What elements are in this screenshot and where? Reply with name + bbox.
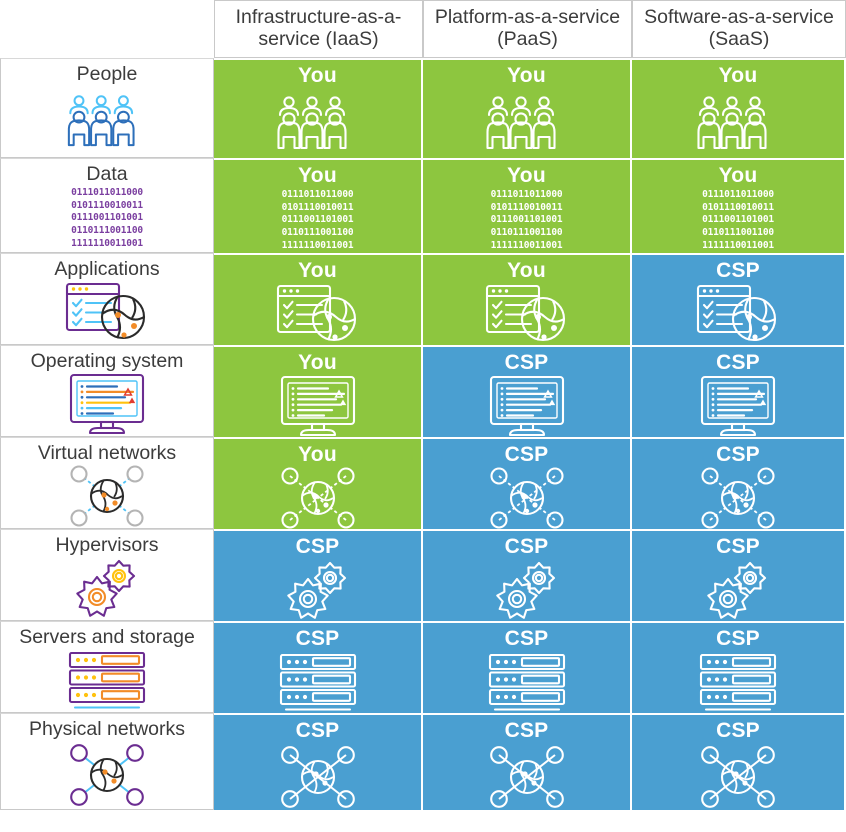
physical-network-icon [214,743,421,810]
responsibility-label: CSP [505,718,549,743]
column-header-iaas: Infrastructure-as-a-service (IaaS) [214,0,423,58]
binary-line: 0101110010011 [702,202,774,215]
binary-line: 0110111001100 [71,225,143,238]
cell-applications-saas: CSP [632,253,846,345]
cell-physical-networks-paas: CSP [423,713,632,810]
responsibility-label: You [507,258,546,283]
row-label-hypervisors: Hypervisors [0,529,214,621]
row-label-text: Virtual networks [38,442,176,464]
cell-data-saas: You0111011011000010111001001101110011010… [632,158,846,253]
cell-operating-system-saas: CSP [632,345,846,437]
binary-data-icon: 0111011011000010111001001101110011010010… [632,188,844,253]
cell-physical-networks-iaas: CSP [214,713,423,810]
responsibility-label: CSP [296,534,340,559]
row-label-physical-networks: Physical networks [0,713,214,810]
monitor-icon [423,375,630,437]
row-label-text: Servers and storage [19,626,195,648]
responsibility-label: You [298,63,337,88]
responsibility-label: CSP [716,718,760,743]
responsibility-label: You [719,163,758,188]
row-label-text: Operating system [31,350,184,372]
row-label-servers-and-storage: Servers and storage [0,621,214,713]
responsibility-label: CSP [716,350,760,375]
physical-network-icon [1,740,213,809]
binary-line: 1111110011001 [702,240,774,253]
row-label-virtual-networks: Virtual networks [0,437,214,529]
virtual-network-icon [214,467,421,529]
responsibility-label: CSP [716,258,760,283]
matrix-corner-cell [0,0,214,58]
responsibility-label: CSP [296,718,340,743]
row-label-text: Data [86,163,127,185]
cell-operating-system-paas: CSP [423,345,632,437]
applications-icon [1,280,213,344]
binary-line: 1111110011001 [491,240,563,253]
binary-line: 0111001101001 [282,214,354,227]
cell-hypervisors-paas: CSP [423,529,632,621]
binary-line: 0101110010011 [491,202,563,215]
responsibility-label: You [298,350,337,375]
server-rack-icon [632,651,844,713]
column-header-paas: Platform-as-a-service (PaaS) [423,0,632,58]
responsibility-label: You [298,258,337,283]
cell-virtual-networks-paas: CSP [423,437,632,529]
applications-icon [632,283,844,345]
binary-data-icon: 0111011011000010111001001101110011010010… [491,189,563,252]
binary-data-icon: 0111011011000010111001001101110011010010… [702,189,774,252]
physical-network-icon [632,743,844,810]
cell-hypervisors-saas: CSP [632,529,846,621]
row-label-text: Hypervisors [56,534,159,556]
gears-icon [214,559,421,621]
cell-servers-and-storage-saas: CSP [632,621,846,713]
binary-line: 0111011011000 [71,187,143,200]
binary-line: 0111001101001 [491,214,563,227]
binary-data-icon: 0111011011000010111001001101110011010010… [282,189,354,252]
responsibility-label: You [298,442,337,467]
responsibility-label: CSP [505,534,549,559]
cell-virtual-networks-saas: CSP [632,437,846,529]
binary-line: 1111110011001 [282,240,354,253]
cell-people-iaas: You [214,58,423,158]
shared-responsibility-matrix: Infrastructure-as-a-service (IaaS)Platfo… [0,0,846,832]
responsibility-label: CSP [505,442,549,467]
binary-line: 1111110011001 [71,238,143,251]
gears-icon [1,556,213,620]
row-label-data: Data011101101100001011100100110111001101… [0,158,214,253]
people-icon [214,88,421,158]
server-rack-icon [214,651,421,713]
virtual-network-icon [423,467,630,529]
server-rack-icon [423,651,630,713]
responsibility-label: You [507,163,546,188]
binary-data-icon: 0111011011000010111001001101110011010010… [423,188,630,253]
cell-physical-networks-saas: CSP [632,713,846,810]
responsibility-label: CSP [716,534,760,559]
column-header-label: Software-as-a-service (SaaS) [639,7,839,51]
column-header-label: Platform-as-a-service (PaaS) [430,7,625,51]
responsibility-label: CSP [505,626,549,651]
responsibility-label: CSP [716,442,760,467]
virtual-network-icon [632,467,844,529]
monitor-icon [632,375,844,437]
responsibility-label: You [298,163,337,188]
applications-icon [423,283,630,345]
cell-hypervisors-iaas: CSP [214,529,423,621]
binary-data-icon: 0111011011000010111001001101110011010010… [1,185,213,252]
responsibility-label: You [507,63,546,88]
cell-data-iaas: You0111011011000010111001001101110011010… [214,158,423,253]
cell-operating-system-iaas: You [214,345,423,437]
server-rack-icon [1,648,213,712]
row-label-text: Applications [54,258,159,280]
binary-line: 0110111001100 [491,227,563,240]
physical-network-icon [423,743,630,810]
cell-people-paas: You [423,58,632,158]
cell-data-paas: You0111011011000010111001001101110011010… [423,158,632,253]
gears-icon [632,559,844,621]
binary-line: 0111001101001 [702,214,774,227]
responsibility-label: CSP [296,626,340,651]
binary-data-icon: 0111011011000010111001001101110011010010… [214,188,421,253]
responsibility-label: CSP [505,350,549,375]
row-label-text: People [77,63,138,85]
cell-virtual-networks-iaas: You [214,437,423,529]
cell-applications-iaas: You [214,253,423,345]
gears-icon [423,559,630,621]
row-label-people: People [0,58,214,158]
row-label-operating-system: Operating system [0,345,214,437]
binary-line: 0101110010011 [71,200,143,213]
cell-servers-and-storage-paas: CSP [423,621,632,713]
cell-servers-and-storage-iaas: CSP [214,621,423,713]
row-label-applications: Applications [0,253,214,345]
cell-people-saas: You [632,58,846,158]
binary-line: 0111001101001 [71,212,143,225]
responsibility-label: You [719,63,758,88]
monitor-icon [1,372,213,436]
binary-line: 0111011011000 [282,189,354,202]
row-label-text: Physical networks [29,718,185,740]
people-icon [632,88,844,158]
binary-line: 0110111001100 [702,227,774,240]
column-header-saas: Software-as-a-service (SaaS) [632,0,846,58]
cell-applications-paas: You [423,253,632,345]
binary-line: 0111011011000 [702,189,774,202]
people-icon [423,88,630,158]
responsibility-label: CSP [716,626,760,651]
column-header-label: Infrastructure-as-a-service (IaaS) [221,7,416,51]
binary-line: 0101110010011 [282,202,354,215]
binary-line: 0110111001100 [282,227,354,240]
monitor-icon [214,375,421,437]
binary-line: 0111011011000 [491,189,563,202]
applications-icon [214,283,421,345]
people-icon [1,85,213,157]
virtual-network-icon [1,464,213,528]
binary-data-icon: 0111011011000010111001001101110011010010… [71,187,143,250]
